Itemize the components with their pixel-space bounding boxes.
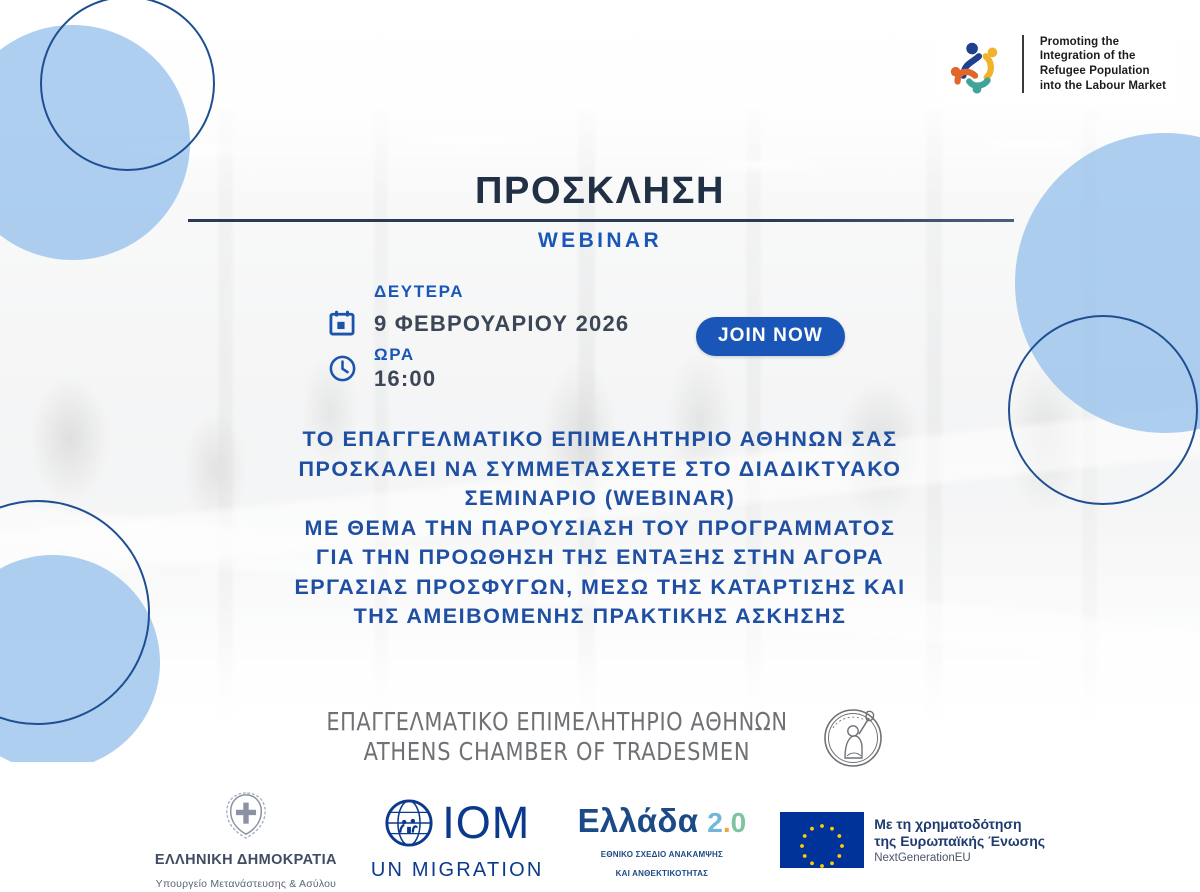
page-subtitle: WEBINAR [0, 229, 1200, 253]
event-time-stack: ΩΡΑ 16:00 [374, 345, 436, 392]
eu-next-generation-label: NextGenerationEU [874, 852, 1045, 864]
eu-funding-text: Με τη χρηματοδότηση της Ευρωπαϊκής Ένωση… [874, 816, 1045, 864]
iom-logo: IOM UN MIGRATION [371, 798, 544, 882]
clock-icon [328, 354, 358, 384]
iom-subtitle: UN MIGRATION [371, 859, 544, 882]
ellada-version: 2.0 [707, 807, 746, 839]
chamber-wordmark: ΕΠΑΓΓΕΛΜΑΤΙΚΟ ΕΠΙΜΕΛΗΤΗΡΙΟ ΑΘΗΝΩΝ ATHENS… [309, 707, 805, 766]
hellenic-republic-subtitle: Υπουργείο Μετανάστευσης & Ασύλου [156, 878, 336, 890]
body-line-6: ΕΡΓΑΣΙΑΣ ΠΡΟΣΦΥΓΩΝ, ΜΕΣΩ ΤΗΣ ΚΑΤΑΡΤΙΣΗΣ … [0, 573, 1200, 603]
ellada-version-two: 2 [707, 807, 723, 838]
programme-logo-text: Promoting the Integration of the Refugee… [1040, 35, 1166, 94]
hellenic-republic-emblem-icon [223, 791, 269, 841]
chamber-name-greek: ΕΠΑΓΓΕΛΜΑΤΙΚΟ ΕΠΙΜΕΛΗΤΗΡΙΟ ΑΘΗΝΩΝ [326, 707, 787, 736]
logo-divider [1022, 35, 1024, 93]
chamber-name-english: ATHENS CHAMBER OF TRADESMEN [326, 737, 787, 766]
event-time-row: ΩΡΑ 16:00 [328, 345, 629, 392]
ellada-name: Ελλάδα [578, 802, 699, 840]
programme-logo-line-4: into the Labour Market [1040, 79, 1166, 94]
iom-acronym: IOM [442, 802, 530, 845]
event-day-label: ΔΕΥΤΕΡΑ [374, 282, 464, 302]
invitation-body-text: ΤΟ ΕΠΑΓΓΕΛΜΑΤΙΚΟ ΕΠΙΜΕΛΗΤΗΡΙΟ ΑΘΗΝΩΝ ΣΑΣ… [0, 425, 1200, 632]
eu-funding-logo: Με τη χρηματοδότηση της Ευρωπαϊκής Ένωση… [780, 812, 1045, 868]
hellenic-republic-title: ΕΛΛΗΝΙΚΗ ΔΗΜΟΚΡΑΤΙΑ [155, 852, 337, 868]
page-title: ΠΡΟΣΚΛΗΣΗ [0, 170, 1200, 213]
join-now-button[interactable]: JOIN NOW [696, 317, 845, 356]
event-time-label: ΩΡΑ [374, 345, 436, 365]
ellada-subtitle-line-2: ΚΑΙ ΑΝΘΕΚΤΙΚΟΤΗΤΑΣ [616, 869, 708, 878]
eu-funding-line-2: της Ευρωπαϊκής Ένωσης [874, 833, 1045, 850]
eu-funding-line-1: Με τη χρηματοδότηση [874, 816, 1045, 833]
programme-logo-line-3: Refugee Population [1040, 64, 1166, 79]
ellada-logo-top: Ελλάδα 2.0 [578, 802, 747, 840]
prometheus-seal-icon [819, 700, 891, 772]
event-date-value: 9 ΦΕΒΡΟΥΑΡΙΟΥ 2026 [374, 310, 629, 338]
footer-logo-strip: ΕΛΛΗΝΙΚΗ ΔΗΜΟΚΡΑΤΙΑ Υπουργείο Μετανάστευ… [0, 790, 1200, 890]
event-date-value-row: 9 ΦΕΒΡΟΥΑΡΙΟΥ 2026 [328, 309, 629, 339]
body-line-7: ΤΗΣ ΑΜΕΙΒΟΜΕΝΗΣ ΠΡΑΚΤΙΚΗΣ ΑΣΚΗΣΗΣ [0, 602, 1200, 632]
body-line-2: ΠΡΟΣΚΑΛΕΙ ΝΑ ΣΥΜΜΕΤΑΣΧΕΤΕ ΣΤΟ ΔΙΑΔΙΚΤΥΑΚ… [0, 455, 1200, 485]
iom-logo-top: IOM [384, 798, 530, 848]
body-line-1: ΤΟ ΕΠΑΓΓΕΛΜΑΤΙΚΟ ΕΠΙΜΕΛΗΤΗΡΙΟ ΑΘΗΝΩΝ ΣΑΣ [0, 425, 1200, 455]
programme-logo-line-1: Promoting the [1040, 35, 1166, 50]
event-time-value: 16:00 [374, 365, 436, 393]
calendar-icon [328, 309, 358, 339]
ellada-version-zero: 0 [731, 807, 747, 838]
refugee-integration-people-icon [944, 33, 1006, 95]
ellada-subtitle-line-1: ΕΘΝΙΚΟ ΣΧΕΔΙΟ ΑΝΑΚΑΜΨΗΣ [601, 850, 723, 859]
hellenic-republic-logo: ΕΛΛΗΝΙΚΗ ΔΗΜΟΚΡΑΤΙΑ Υπουργείο Μετανάστευ… [155, 791, 337, 890]
event-datetime-block: ΔΕΥΤΕΡΑ 9 ΦΕΒΡΟΥΑΡΙΟΥ 2026 ΩΡ [328, 277, 629, 392]
iom-globe-icon [384, 798, 434, 848]
ellada-version-dot: . [723, 807, 731, 838]
programme-logo: Promoting the Integration of the Refugee… [938, 27, 1176, 101]
body-line-5: ΓΙΑ ΤΗΝ ΠΡΟΩΘΗΣΗ ΤΗΣ ΕΝΤΑΞΗΣ ΣΤΗΝ ΑΓΟΡΑ [0, 543, 1200, 573]
decorative-circle-outline-top-left [40, 0, 215, 171]
ellada-2-0-logo: Ελλάδα 2.0 ΕΘΝΙΚΟ ΣΧΕΔΙΟ ΑΝΑΚΑΜΨΗΣ ΚΑΙ Α… [578, 802, 747, 878]
page-title-block: ΠΡΟΣΚΛΗΣΗ [0, 170, 1200, 213]
event-date-row: ΔΕΥΤΕΡΑ [328, 277, 629, 307]
eu-flag-icon [780, 812, 864, 868]
webinar-invitation-poster: Promoting the Integration of the Refugee… [0, 0, 1200, 892]
body-line-3: ΣΕΜΙΝΑΡΙΟ (WEBINAR) [0, 484, 1200, 514]
title-divider-rule [188, 219, 1014, 222]
athens-chamber-logo: ΕΠΑΓΓΕΛΜΑΤΙΚΟ ΕΠΙΜΕΛΗΤΗΡΙΟ ΑΘΗΝΩΝ ATHENS… [0, 700, 1200, 772]
body-line-4: ΜΕ ΘΕΜΑ ΤΗΝ ΠΑΡΟΥΣΙΑΣΗ ΤΟΥ ΠΡΟΓΡΑΜΜΑΤΟΣ [0, 514, 1200, 544]
programme-logo-line-2: Integration of the [1040, 49, 1166, 64]
